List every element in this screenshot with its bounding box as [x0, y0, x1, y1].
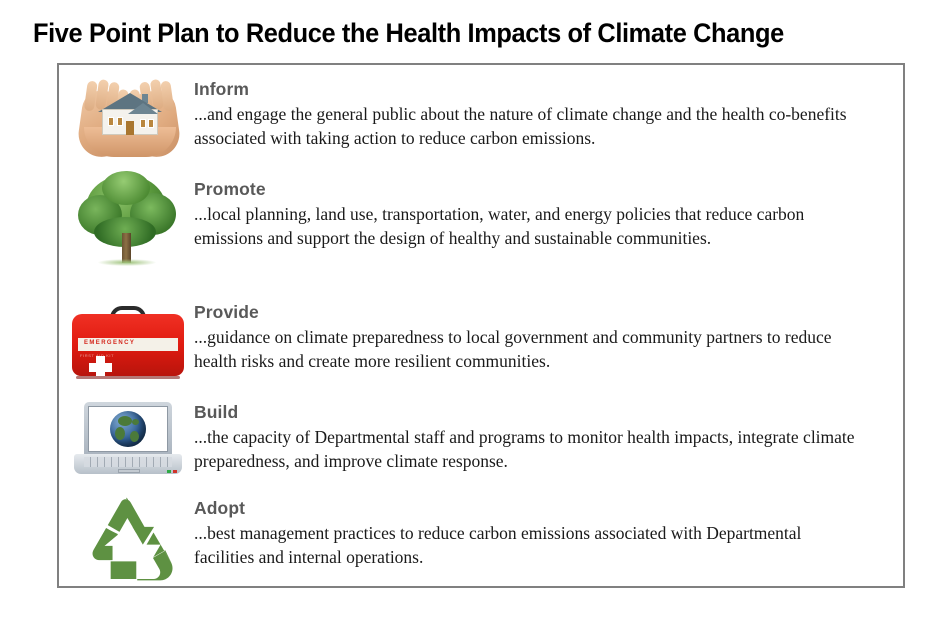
bag-body-shape: EMERGENCY FIRST AID KIT — [72, 314, 184, 376]
first-aid-bag-icon: EMERGENCY FIRST AID KIT — [64, 294, 192, 392]
house-shape — [98, 93, 162, 133]
plan-item-inform: Inform ...and engage the general public … — [59, 71, 903, 171]
plan-heading: Build — [194, 402, 866, 422]
five-point-plan-graphic: Five Point Plan to Reduce the Health Imp… — [0, 0, 952, 630]
text-cell-promote: Promote ...local planning, land use, tra… — [194, 171, 866, 250]
page-title: Five Point Plan to Reduce the Health Imp… — [33, 18, 784, 49]
laptop-globe-icon — [64, 394, 192, 488]
laptop-screen-shape — [88, 406, 168, 452]
icon-cell-inform — [59, 71, 194, 171]
recycling-symbol-icon — [64, 490, 192, 585]
laptop-led-red — [173, 470, 177, 473]
text-cell-build: Build ...the capacity of Departmental st… — [194, 394, 866, 473]
globe-earth-shape — [110, 411, 146, 447]
hands-holding-house-icon — [64, 71, 192, 171]
plan-heading: Promote — [194, 179, 866, 199]
plan-body: ...best management practices to reduce c… — [194, 521, 866, 569]
bag-zipper-shape — [76, 376, 180, 379]
text-cell-provide: Provide ...guidance on climate preparedn… — [194, 294, 866, 373]
plan-item-provide: EMERGENCY FIRST AID KIT Provide ...guid — [59, 294, 903, 392]
cross-horizontal-shape — [89, 363, 112, 372]
plan-rows: Inform ...and engage the general public … — [59, 65, 903, 586]
icon-cell-provide: EMERGENCY FIRST AID KIT — [59, 294, 194, 392]
plan-item-promote: Promote ...local planning, land use, tra… — [59, 171, 903, 289]
plan-item-adopt: Adopt ...best management practices to re… — [59, 490, 903, 585]
icon-cell-adopt — [59, 490, 194, 585]
laptop-touchpad-shape — [118, 469, 140, 473]
plan-body: ...guidance on climate preparedness to l… — [194, 325, 866, 373]
icon-cell-build — [59, 394, 194, 488]
laptop-lid-shape — [84, 402, 172, 456]
plan-heading: Provide — [194, 302, 866, 322]
emergency-label: EMERGENCY — [84, 340, 135, 346]
plan-heading: Adopt — [194, 498, 866, 518]
text-cell-inform: Inform ...and engage the general public … — [194, 71, 866, 150]
tree-ground-shadow — [98, 259, 156, 266]
laptop-led-green — [167, 470, 171, 473]
plan-panel: Inform ...and engage the general public … — [57, 63, 905, 588]
plan-item-build: Build ...the capacity of Departmental st… — [59, 394, 903, 488]
plan-body: ...local planning, land use, transportat… — [194, 202, 866, 250]
plan-body: ...and engage the general public about t… — [194, 102, 866, 150]
tree-icon — [64, 171, 192, 289]
icon-cell-promote — [59, 171, 194, 289]
bag-label-stripe: EMERGENCY — [78, 338, 178, 351]
laptop-keyboard-shape — [84, 457, 172, 467]
recycle-arrows-shape — [78, 496, 174, 582]
plan-heading: Inform — [194, 79, 866, 99]
plan-body: ...the capacity of Departmental staff an… — [194, 425, 866, 473]
text-cell-adopt: Adopt ...best management practices to re… — [194, 490, 866, 569]
